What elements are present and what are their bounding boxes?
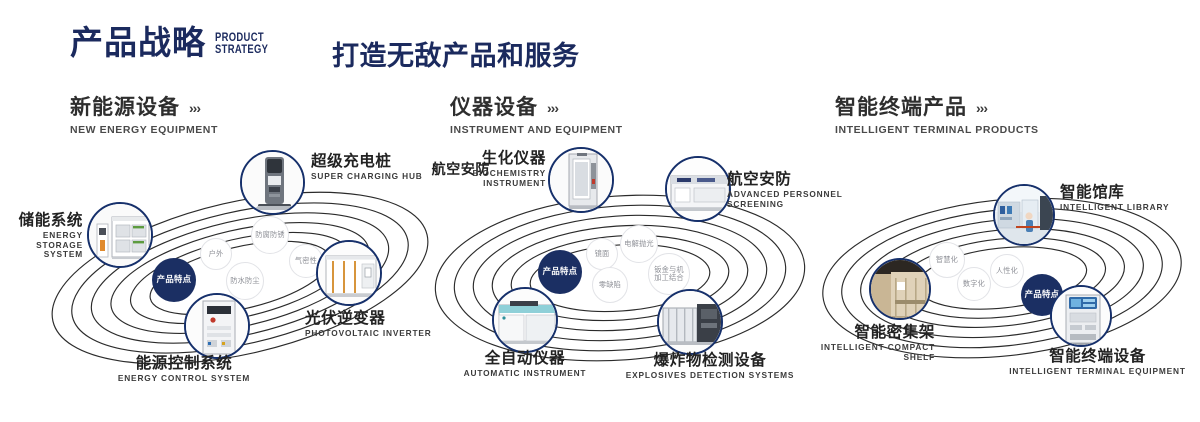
chevron-right-triple-icon: ››› (976, 101, 987, 116)
caption-intelligent-terminal-equipment: 智能终端设备 INTELLIGENT TERMINAL EQUIPMENT (995, 348, 1200, 377)
product-strategy-infographic: 产品战略 PRODUCT STRATEGY 打造无敌产品和服务 新能源设备 ››… (0, 0, 1200, 422)
feature-bubble-digital: 数字化 (957, 267, 991, 301)
node-super-charging-hub[interactable] (240, 150, 305, 215)
feature-bubble-label: 防水防尘 (230, 277, 260, 285)
feature-bubble-mirror: 镜面 (586, 238, 618, 270)
energy-control-cabinet-icon (186, 295, 248, 357)
personnel-screening-icon (667, 158, 729, 220)
page-title: 产品战略 PRODUCT STRATEGY (70, 26, 280, 59)
caption-energy-control-system: 能源控制系统 ENERGY CONTROL SYSTEM (76, 355, 292, 384)
feature-bubble-label: 数字化 (963, 280, 985, 288)
caption-energy-storage-system: 储能系统 ENERGY STORAGE SYSTEM (0, 212, 83, 259)
feature-bubble-label: 钣金与机加工结合 (651, 266, 687, 282)
caption-en: ENERGY CONTROL SYSTEM (76, 374, 292, 383)
caption-cn: 生化仪器 (450, 150, 546, 167)
terminal-kiosk-icon (1052, 287, 1110, 345)
caption-automatic-instrument: 全自动仪器 AUTOMATIC INSTRUMENT (440, 350, 610, 379)
section-heading-cn: 新能源设备 ››› (70, 96, 218, 119)
caption-cn: 智能终端设备 (995, 348, 1200, 365)
feature-bubble-electropolish: 电解抛光 (620, 225, 658, 263)
node-intelligent-library[interactable] (993, 184, 1055, 246)
feature-bubble-label: 防腐防锈 (255, 231, 285, 239)
caption-cn: 爆炸物检测设备 (610, 352, 810, 369)
page-subtitle: 打造无敌产品和服务 (332, 34, 580, 73)
feature-bubble-anticorrosion: 防腐防锈 (251, 216, 289, 254)
explosives-detection-icon (659, 291, 721, 353)
node-advanced-personnel-screening[interactable] (665, 156, 731, 222)
node-explosives-detection[interactable] (657, 289, 723, 355)
caption-en: EXPLOSIVES DETECTION SYSTEMS (610, 371, 810, 380)
feature-bubble-label: 气密性 (295, 257, 317, 265)
super-charging-hub-icon (242, 152, 303, 213)
caption-en: BIOCHEMISTRY INSTRUMENT (450, 169, 546, 188)
section-heading-label: 智能终端产品 (835, 96, 967, 119)
caption-cn: 智能密集架 (790, 324, 935, 341)
chevron-right-triple-icon: ››› (189, 101, 200, 116)
caption-en: AUTOMATIC INSTRUMENT (440, 369, 610, 378)
caption-intelligent-library: 智能馆库 INTELLIGENT LIBRARY (1060, 184, 1200, 213)
cluster-new-energy: 产品特点 户外 防腐防锈 防水防尘 气密性 (40, 150, 440, 405)
node-intelligent-compact-shelf[interactable] (869, 258, 931, 320)
node-energy-storage-system[interactable] (87, 202, 153, 268)
feature-bubble-label: 户外 (209, 250, 224, 258)
biochemistry-instrument-icon (550, 149, 612, 211)
section-heading-label: 新能源设备 (70, 96, 180, 119)
feature-bubble-humanized: 人性化 (990, 254, 1024, 288)
node-automatic-instrument[interactable] (492, 287, 558, 353)
compact-shelf-icon (871, 260, 929, 318)
caption-biochemistry-instrument: 生化仪器 BIOCHEMISTRY INSTRUMENT (450, 150, 546, 188)
caption-intelligent-compact-shelf: 智能密集架 INTELLIGENT COMPACT SHELF (790, 324, 935, 362)
feature-bubble-label: 镜面 (595, 250, 610, 258)
caption-explosives-detection: 爆炸物检测设备 EXPLOSIVES DETECTION SYSTEMS (610, 352, 810, 381)
caption-en: INTELLIGENT COMPACT SHELF (790, 343, 935, 362)
feature-bubble-label: 零缺陷 (599, 281, 621, 289)
chevron-right-triple-icon: ››› (547, 101, 558, 116)
section-heading-cn: 智能终端产品 ››› (835, 96, 1039, 119)
caption-en: ENERGY STORAGE SYSTEM (0, 231, 83, 259)
caption-en: INTELLIGENT LIBRARY (1060, 203, 1200, 212)
node-biochemistry-instrument[interactable] (548, 147, 614, 213)
cluster-instrument: 产品特点 镜面 电解抛光 钣金与机加工结合 零缺陷 (420, 150, 820, 405)
section-heading-intelligent-terminal: 智能终端产品 ››› INTELLIGENT TERMINAL PRODUCTS (835, 96, 1039, 136)
section-heading-cn: 仪器设备 ››› (450, 96, 623, 119)
intelligent-library-icon (995, 186, 1053, 244)
node-energy-control-system[interactable] (184, 293, 250, 359)
section-heading-label: 仪器设备 (450, 96, 538, 119)
core-bubble-instrument: 产品特点 (538, 250, 582, 294)
feature-bubble-zero-defect: 零缺陷 (592, 267, 628, 303)
photovoltaic-inverter-icon (318, 242, 380, 304)
feature-bubble-label: 人性化 (996, 267, 1018, 275)
core-bubble-label: 产品特点 (157, 275, 192, 284)
feature-bubble-outdoor: 户外 (200, 238, 232, 270)
caption-en: INTELLIGENT TERMINAL EQUIPMENT (995, 367, 1200, 376)
page-title-en-line2: STRATEGY (215, 45, 268, 57)
node-photovoltaic-inverter[interactable] (316, 240, 382, 306)
section-heading-en: INTELLIGENT TERMINAL PRODUCTS (835, 124, 1039, 136)
energy-storage-cabinet-icon (89, 204, 151, 266)
feature-bubble-label: 智慧化 (936, 256, 958, 264)
cluster-intelligent-terminal: 智慧化 数字化 人性化 产品特点 (805, 150, 1200, 405)
section-heading-instrument: 仪器设备 ››› INSTRUMENT AND EQUIPMENT (450, 96, 623, 136)
page-title-en: PRODUCT STRATEGY (215, 33, 268, 57)
caption-cn: 储能系统 (0, 212, 83, 229)
page-title-cn: 产品战略 (70, 26, 206, 59)
caption-cn: 全自动仪器 (440, 350, 610, 367)
core-bubble-label: 产品特点 (543, 267, 578, 276)
caption-cn: 能源控制系统 (76, 355, 292, 372)
section-heading-en: NEW ENERGY EQUIPMENT (70, 124, 218, 136)
feature-bubble-label: 电解抛光 (624, 240, 654, 248)
node-intelligent-terminal-equipment[interactable] (1050, 285, 1112, 347)
caption-cn: 智能馆库 (1060, 184, 1200, 201)
section-heading-en: INSTRUMENT AND EQUIPMENT (450, 124, 623, 136)
section-heading-new-energy: 新能源设备 ››› NEW ENERGY EQUIPMENT (70, 96, 218, 136)
automatic-instrument-icon (494, 289, 556, 351)
